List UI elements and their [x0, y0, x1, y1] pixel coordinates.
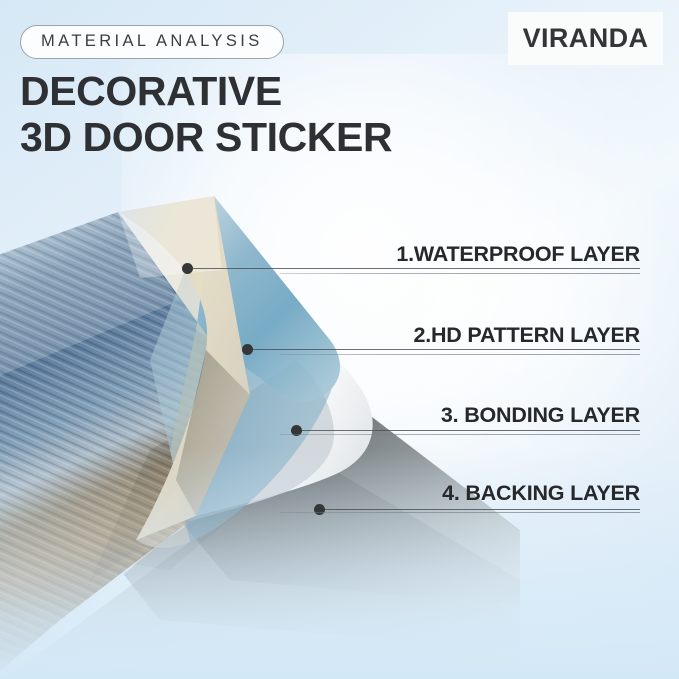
callout-label-hd-pattern: 2.HD PATTERN LAYER — [280, 325, 640, 354]
callout-underline-backing — [280, 512, 640, 513]
callout-underline-waterproof — [280, 273, 640, 274]
callout-label-bonding: 3. BONDING LAYER — [280, 405, 640, 434]
brand-logo: VIRANDA — [508, 12, 663, 65]
product-infographic: MATERIAL ANALYSIS DECORATIVE 3D DOOR STI… — [0, 0, 679, 679]
callout-underline-bonding — [280, 434, 640, 435]
callout-bonding: 3. BONDING LAYER — [280, 405, 640, 435]
headline-line-2: 3D DOOR STICKER — [20, 115, 392, 161]
callout-backing: 4. BACKING LAYER — [280, 483, 640, 513]
leader-dot-hd-pattern — [242, 344, 253, 355]
callout-hd-pattern: 2.HD PATTERN LAYER — [280, 325, 640, 355]
callout-waterproof: 1.WATERPROOF LAYER — [280, 244, 640, 274]
leader-dot-waterproof — [182, 263, 193, 274]
callout-underline-hd-pattern — [280, 354, 640, 355]
headline-line-1: DECORATIVE — [20, 68, 282, 114]
page-title: DECORATIVE 3D DOOR STICKER — [20, 69, 392, 161]
brand-name: VIRANDA — [523, 25, 649, 52]
material-analysis-badge: MATERIAL ANALYSIS — [20, 25, 284, 59]
badge-label: MATERIAL ANALYSIS — [41, 32, 263, 50]
callout-label-backing: 4. BACKING LAYER — [280, 483, 640, 512]
callout-label-waterproof: 1.WATERPROOF LAYER — [280, 244, 640, 273]
